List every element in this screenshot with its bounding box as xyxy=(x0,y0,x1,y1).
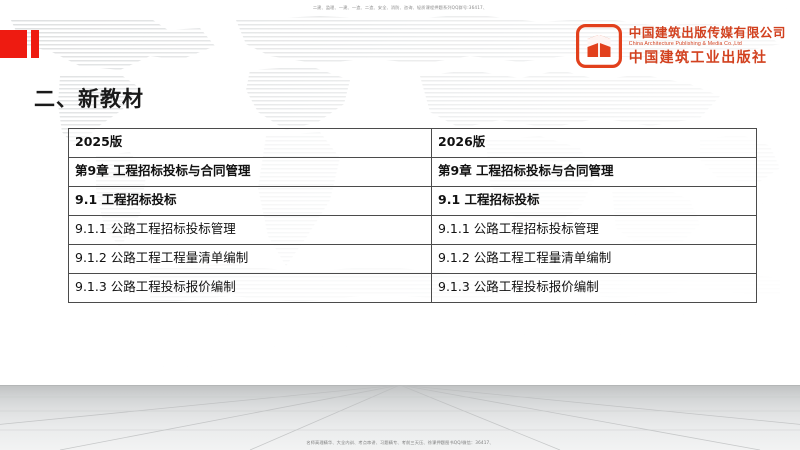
table-cell-right: 2026版 xyxy=(432,129,757,158)
publisher-company-cn: 中国建筑出版传媒有限公司 xyxy=(629,27,786,40)
table-cell-right: 9.1.3 公路工程投标报价编制 xyxy=(432,274,757,303)
table-row: 9.1.1 公路工程招标投标管理 9.1.1 公路工程招标投标管理 xyxy=(69,216,757,245)
presentation-slide: 中国建筑出版传媒有限公司 China Architecture Publishi… xyxy=(0,0,800,450)
table-row: 第9章 工程招标投标与合同管理 第9章 工程招标投标与合同管理 xyxy=(69,158,757,187)
publisher-book-logo-icon xyxy=(576,24,622,68)
table-row: 9.1.2 公路工程工程量清单编制 9.1.2 公路工程工程量清单编制 xyxy=(69,245,757,274)
table-cell-right: 第9章 工程招标投标与合同管理 xyxy=(432,158,757,187)
red-accent-square xyxy=(0,30,27,58)
table-cell-left: 9.1.1 公路工程招标投标管理 xyxy=(69,216,432,245)
publisher-logo: 中国建筑出版传媒有限公司 China Architecture Publishi… xyxy=(576,24,786,68)
table-body: 2025版 2026版 第9章 工程招标投标与合同管理 第9章 工程招标投标与合… xyxy=(69,129,757,303)
red-accent-bar xyxy=(31,30,39,58)
publisher-logo-text: 中国建筑出版传媒有限公司 China Architecture Publishi… xyxy=(629,27,786,64)
publisher-company-en: China Architecture Publishing & Media Co… xyxy=(629,42,786,47)
table-cell-left: 第9章 工程招标投标与合同管理 xyxy=(69,158,432,187)
table-row: 9.1 工程招标投标 9.1 工程招标投标 xyxy=(69,187,757,216)
table-cell-left: 2025版 xyxy=(69,129,432,158)
version-comparison-table: 2025版 2026版 第9章 工程招标投标与合同管理 第9章 工程招标投标与合… xyxy=(68,128,757,303)
watermark-bottom-text: 名师高理精华、大全内训、考点串讲、习题精专、考前三天压、徐课押题图书QQ/微信：… xyxy=(0,440,800,446)
page-title: 二、新教材 xyxy=(34,83,144,113)
table-cell-left: 9.1.2 公路工程工程量清单编制 xyxy=(69,245,432,274)
table-cell-left: 9.1.3 公路工程投标报价编制 xyxy=(69,274,432,303)
table-cell-right: 9.1 工程招标投标 xyxy=(432,187,757,216)
publisher-press-cn: 中国建筑工业出版社 xyxy=(629,51,786,65)
table-row: 9.1.3 公路工程投标报价编制 9.1.3 公路工程投标报价编制 xyxy=(69,274,757,303)
table-cell-right: 9.1.1 公路工程招标投标管理 xyxy=(432,216,757,245)
table-cell-right: 9.1.2 公路工程工程量清单编制 xyxy=(432,245,757,274)
table-cell-left: 9.1 工程招标投标 xyxy=(69,187,432,216)
watermark-top-text: 二建、监理、一建、一造、二造、安全、消防、咨询、轻质课程押题系列QQ群号:364… xyxy=(0,5,800,11)
table-row: 2025版 2026版 xyxy=(69,129,757,158)
